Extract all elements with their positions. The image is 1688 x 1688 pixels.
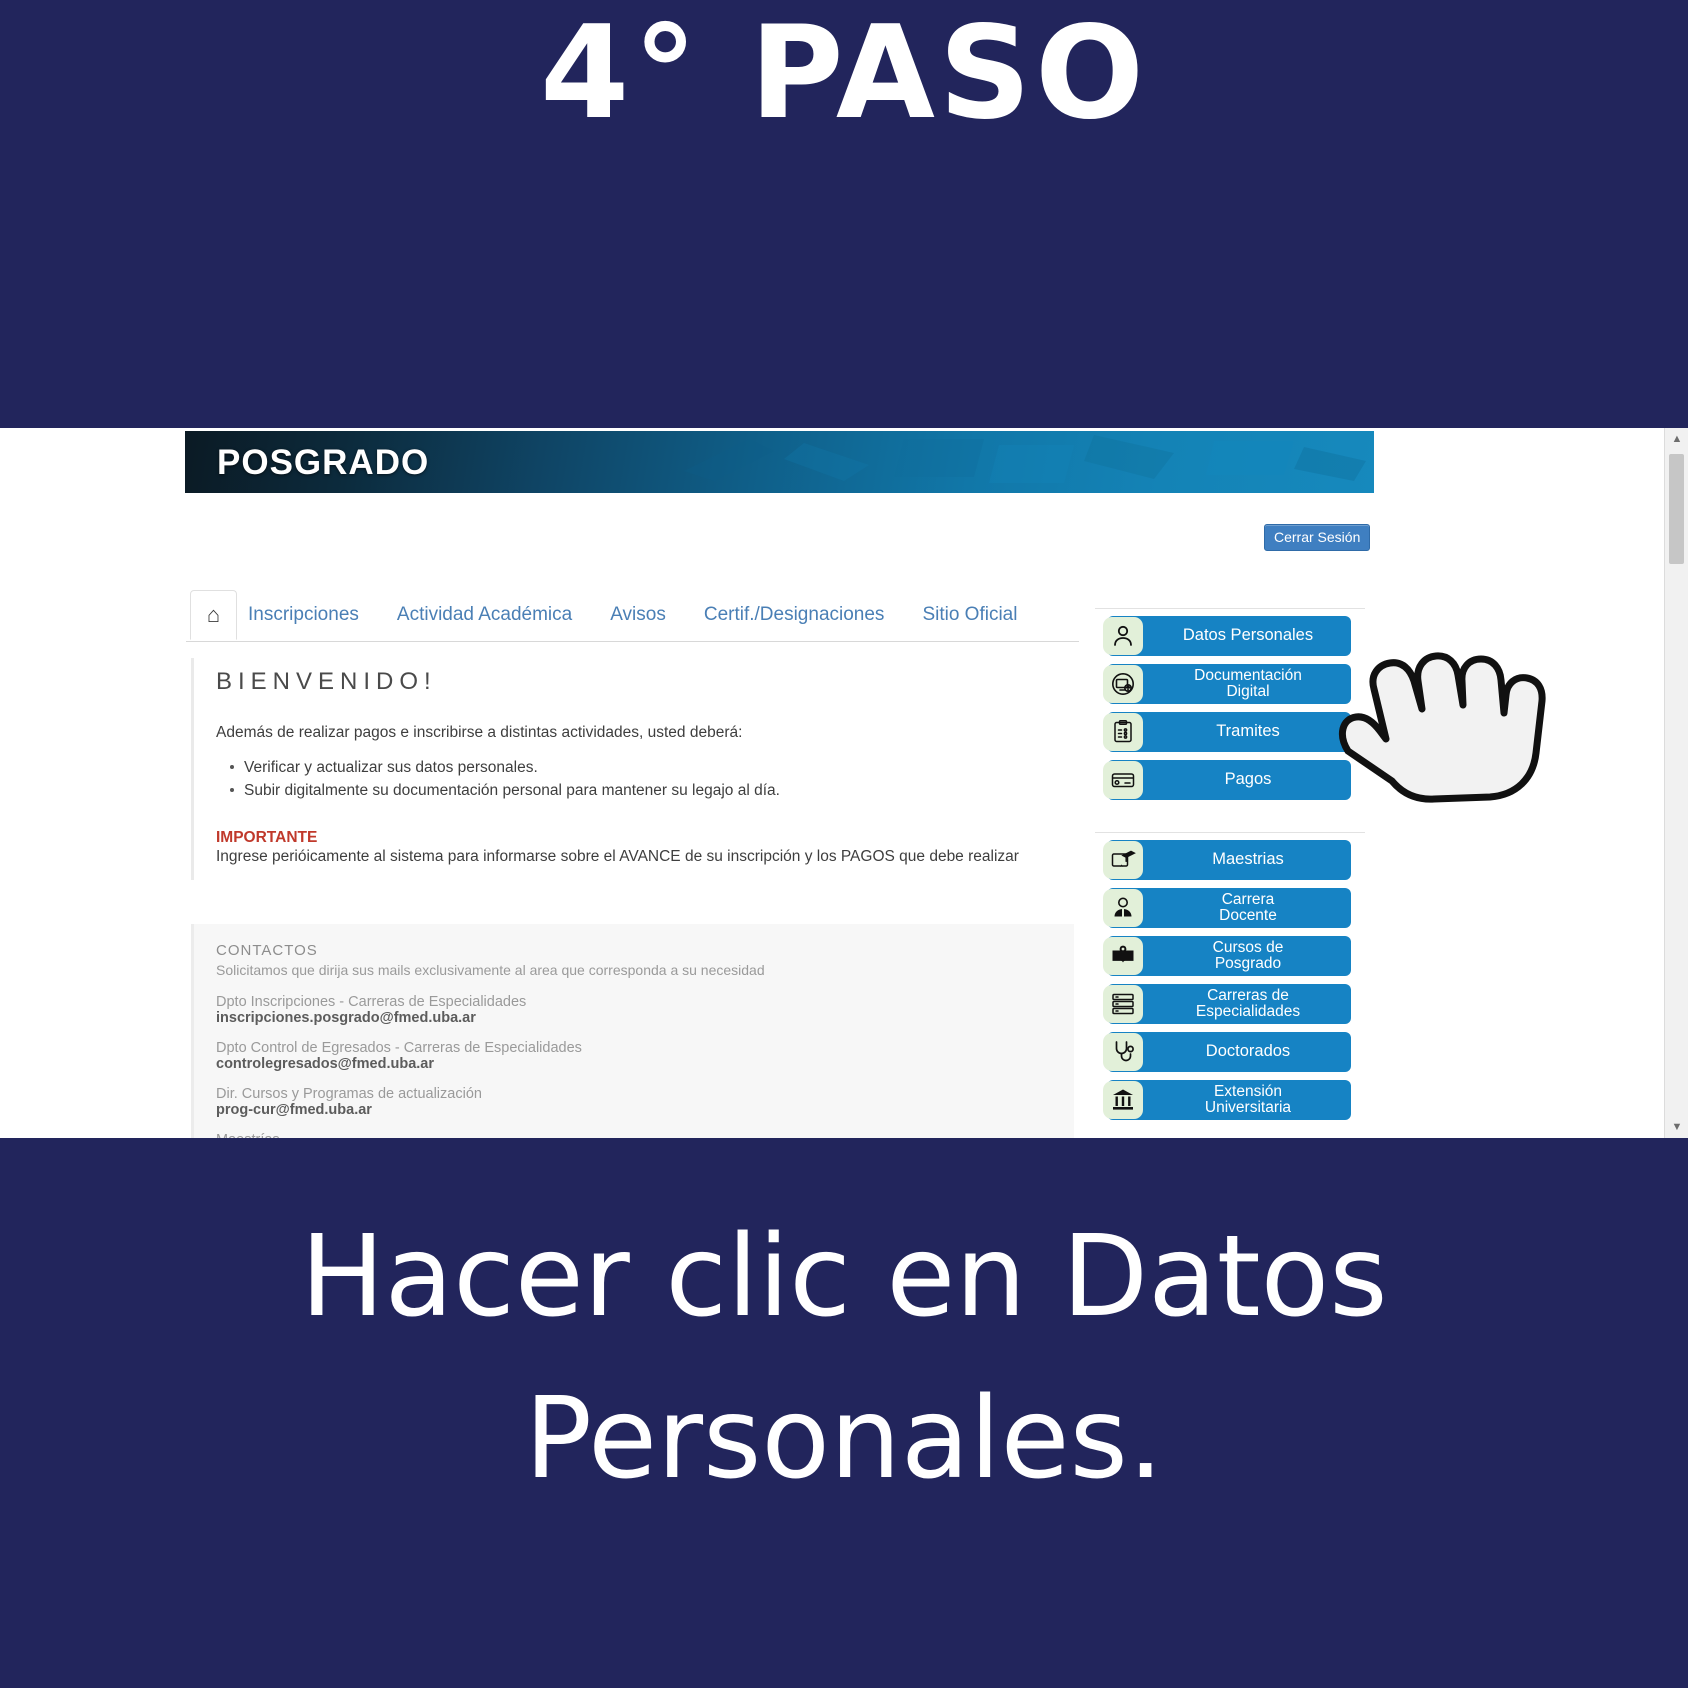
scroll-up-arrow-icon[interactable]: ▲ [1665,428,1688,450]
list-item: Dpto Inscripciones - Carreras de Especia… [216,994,1074,1026]
important-heading: IMPORTANTE [216,829,1074,847]
sidebar-item-cursos-de-posgrado[interactable]: Cursos de Posgrado [1107,936,1351,976]
slide-root: 4° PASO POSGRADO Cerrar Sesión [0,0,1688,1688]
sidebar-item-documentacion-digital[interactable]: Documentación Digital [1107,664,1351,704]
person-icon [1103,617,1143,655]
caption-text: Hacer clic en Datos Personales. [0,1196,1688,1521]
open-book-icon [1103,937,1143,975]
contact-email[interactable]: controlegresados@fmed.uba.ar [216,1056,1074,1072]
sidebar-item-carreras-de-especialidades[interactable]: Carreras de Especialidades [1107,984,1351,1024]
home-icon: ⌂ [207,604,220,626]
scrollbar-thumb[interactable] [1669,454,1684,564]
top-title-band: 4° PASO [0,0,1688,430]
main-navbar: ⌂ Inscripciones Actividad Académica Avis… [186,586,1079,642]
sidebar-divider-mid [1095,832,1365,833]
main-content-card: ⌂ Inscripciones Actividad Académica Avis… [186,586,1079,1138]
nav-item-avisos[interactable]: Avisos [610,604,666,626]
embedded-screenshot: POSGRADO Cerrar Sesión ⌂ Inscripciones A… [0,428,1688,1138]
upload-document-icon [1103,665,1143,703]
nav-item-sitio-oficial[interactable]: Sitio Oficial [922,604,1017,626]
sidebar-group-programs: Maestrias Carrera Docente [1107,840,1351,1128]
welcome-title: BIENVENIDO! [216,668,1074,696]
sidebar-item-label: Documentación Digital [1107,668,1351,701]
nav-item-certif-designaciones[interactable]: Certif./Designaciones [704,604,885,626]
contacts-subtitle: Solicitamos que dirija sus mails exclusi… [216,962,1074,978]
contact-department: Dpto Control de Egresados - Carreras de … [216,1040,1074,1056]
sidebar-item-extension-universitaria[interactable]: Extensión Universitaria [1107,1080,1351,1120]
contacts-block: CONTACTOS Solicitamos que dirija sus mai… [191,924,1074,1138]
contact-email[interactable]: prog-cur@fmed.uba.ar [216,1102,1074,1118]
list-item: Dpto Control de Egresados - Carreras de … [216,1040,1074,1072]
contact-email[interactable]: inscripciones.posgrado@fmed.uba.ar [216,1010,1074,1026]
list-item: Verificar y actualizar sus datos persona… [244,756,1074,779]
books-shelf-icon [1103,985,1143,1023]
sidebar-item-pagos[interactable]: Pagos [1107,760,1351,800]
banner-decoration [654,431,1374,493]
welcome-intro: Además de realizar pagos e inscribirse a… [216,724,1074,742]
hand-pointer-cursor [1330,623,1570,803]
classic-building-icon [1103,1081,1143,1119]
banner-title: POSGRADO [217,443,429,483]
list-item: Dir. Cursos y Programas de actualización… [216,1086,1074,1118]
logout-button[interactable]: Cerrar Sesión [1264,524,1370,551]
nav-item-actividad-academica[interactable]: Actividad Académica [397,604,572,626]
nav-item-inscripciones[interactable]: Inscripciones [248,604,359,626]
sidebar-item-label: Carrera Docente [1107,892,1351,925]
contacts-heading: CONTACTOS [216,942,1074,959]
sidebar-item-label: Carreras de Especialidades [1107,988,1351,1021]
sidebar-item-label: Doctorados [1107,1043,1351,1060]
sidebar-item-carrera-docente[interactable]: Carrera Docente [1107,888,1351,928]
teacher-icon [1103,889,1143,927]
posgrado-banner: POSGRADO [185,431,1374,493]
list-item: Subir digitalmente su documentación pers… [244,779,1074,802]
vertical-scrollbar[interactable]: ▲ ▼ [1664,428,1688,1138]
right-sidebar: Datos Personales Documen [1095,586,1365,1138]
sidebar-item-label: Maestrias [1107,851,1351,868]
sidebar-item-label: Datos Personales [1107,627,1351,644]
welcome-bullet-list: Verificar y actualizar sus datos persona… [216,756,1074,803]
sidebar-group-account: Datos Personales Documen [1107,616,1351,808]
sidebar-item-maestrias[interactable]: Maestrias [1107,840,1351,880]
sidebar-item-label: Tramites [1107,723,1351,740]
payment-card-icon [1103,761,1143,799]
sidebar-item-label: Pagos [1107,771,1351,788]
stethoscope-icon [1103,1033,1143,1071]
contact-department: Dpto Inscripciones - Carreras de Especia… [216,994,1074,1010]
graduation-board-icon [1103,841,1143,879]
important-text: Ingrese perióicamente al sistema para in… [216,848,1074,866]
browser-pane: POSGRADO Cerrar Sesión ⌂ Inscripciones A… [0,428,1688,1138]
nav-home-tab[interactable]: ⌂ [190,590,237,640]
sidebar-divider-top [1095,608,1365,609]
scroll-down-arrow-icon[interactable]: ▼ [1665,1116,1688,1138]
nav-links: Inscripciones Actividad Académica Avisos… [248,604,1017,626]
sidebar-item-tramites[interactable]: Tramites [1107,712,1351,752]
contact-department: Dir. Cursos y Programas de actualización [216,1086,1074,1102]
sidebar-item-label: Cursos de Posgrado [1107,940,1351,973]
sidebar-item-datos-personales[interactable]: Datos Personales [1107,616,1351,656]
sidebar-item-label: Extensión Universitaria [1107,1084,1351,1117]
welcome-block: BIENVENIDO! Además de realizar pagos e i… [191,658,1074,880]
step-title: 4° PASO [0,4,1688,145]
sidebar-item-doctorados[interactable]: Doctorados [1107,1032,1351,1072]
bottom-caption-band: Hacer clic en Datos Personales. [0,1138,1688,1688]
clipboard-icon [1103,713,1143,751]
